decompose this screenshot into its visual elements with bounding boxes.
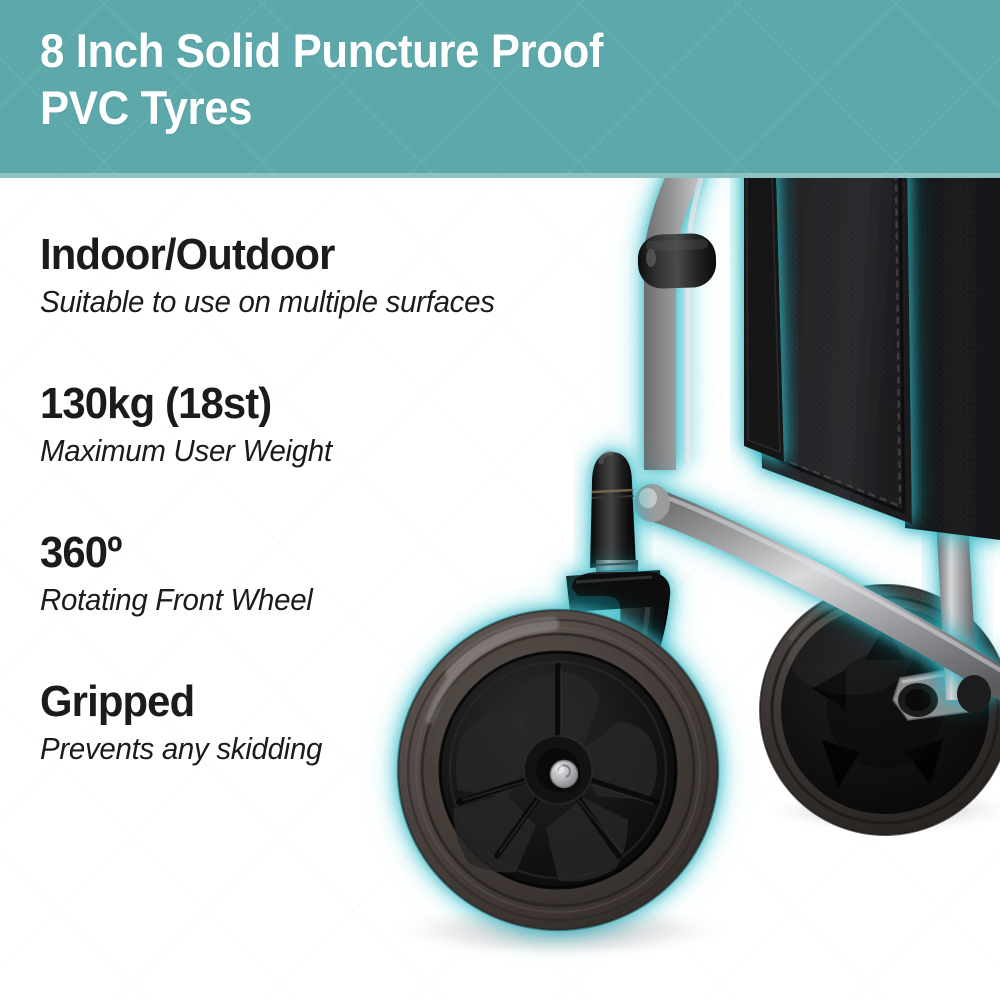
feature-subtitle: Prevents any skidding <box>40 729 610 768</box>
rear-wheel <box>760 585 1000 835</box>
feature-subtitle: Rotating Front Wheel <box>40 580 610 619</box>
feature-item-indoor-outdoor: Indoor/Outdoor Suitable to use on multip… <box>40 230 640 321</box>
height-adjust-collar <box>637 233 717 290</box>
page-title: 8 Inch Solid Puncture Proof PVC Tyres <box>40 22 728 136</box>
header-bottom-edge <box>0 173 1000 178</box>
feature-item-rotating-wheel: 360º Rotating Front Wheel <box>40 528 640 619</box>
frame-rear-leg-stub <box>957 675 991 713</box>
header-banner: 8 Inch Solid Puncture Proof PVC Tyres <box>0 0 1000 178</box>
feature-subtitle: Maximum User Weight <box>40 431 610 470</box>
feature-title: 360º <box>40 528 610 578</box>
rear-wheel-shadow <box>760 786 1000 834</box>
rear-axle-bracket <box>893 668 972 720</box>
feature-list: Indoor/Outdoor Suitable to use on multip… <box>40 230 640 768</box>
frame-tube-rear-leg <box>936 520 978 700</box>
infographic-page: 8 Inch Solid Puncture Proof PVC Tyres In… <box>0 0 1000 1000</box>
front-wheel-shadow <box>385 900 735 960</box>
feature-title: Indoor/Outdoor <box>40 230 610 280</box>
feature-subtitle: Suitable to use on multiple surfaces <box>40 282 610 321</box>
feature-item-max-weight: 130kg (18st) Maximum User Weight <box>40 379 640 470</box>
feature-title: 130kg (18st) <box>40 379 610 429</box>
frame-tube-diagonal <box>634 484 1000 700</box>
feature-title: Gripped <box>40 677 610 727</box>
feature-item-gripped: Gripped Prevents any skidding <box>40 677 640 768</box>
